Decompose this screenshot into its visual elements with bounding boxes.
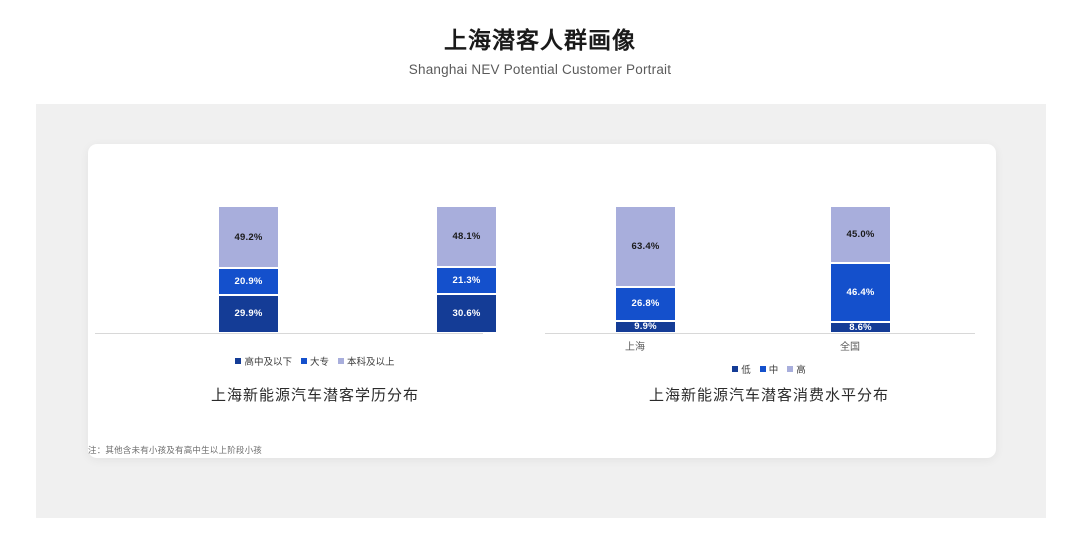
legend-label: 低 xyxy=(741,362,751,376)
legend-swatch-icon xyxy=(732,366,738,372)
legend-label: 高 xyxy=(796,362,806,376)
bar-segment[interactable]: 63.4% xyxy=(615,206,676,287)
page-title: 上海潜客人群画像 xyxy=(0,26,1080,55)
x-axis-line xyxy=(95,333,483,334)
page-header: 上海潜客人群画像 Shanghai NEV Potential Customer… xyxy=(0,0,1080,77)
legend-item[interactable]: 高中及以下 xyxy=(235,354,292,368)
legend-swatch-icon xyxy=(301,358,307,364)
chart-caption: 上海新能源汽车潜客学历分布 xyxy=(88,384,542,405)
stacked-bar[interactable]: 45.0%46.4%8.6% xyxy=(830,206,891,333)
plot-area: 63.4%26.8%9.9%45.0%46.4%8.6% xyxy=(542,144,996,334)
x-axis-tick-label: 上海 xyxy=(595,338,675,353)
legend-swatch-icon xyxy=(235,358,241,364)
x-axis-line xyxy=(545,333,975,334)
stacked-bar[interactable]: 49.2%20.9%29.9% xyxy=(218,206,279,333)
bar-segment[interactable]: 21.3% xyxy=(436,267,497,294)
x-axis-tick-labels: 上海全国 xyxy=(542,335,996,353)
chart-2: 63.4%26.8%9.9%45.0%46.4%8.6%上海全国低中高上海新能源… xyxy=(542,144,996,458)
charts-card: 49.2%20.9%29.9%48.1%21.3%30.6%高中及以下大专本科及… xyxy=(88,144,996,458)
legend-label: 高中及以下 xyxy=(244,354,292,368)
bar-segment[interactable]: 49.2% xyxy=(218,206,279,268)
legend-label: 本科及以上 xyxy=(347,354,395,368)
legend-swatch-icon xyxy=(787,366,793,372)
bar-segment[interactable]: 20.9% xyxy=(218,268,279,295)
bar-segment[interactable]: 30.6% xyxy=(436,294,497,333)
footnote: 注：其他含未有小孩及有高中生以上阶段小孩 xyxy=(88,444,262,456)
bar-segment[interactable]: 29.9% xyxy=(218,295,279,333)
stacked-bar[interactable]: 63.4%26.8%9.9% xyxy=(615,206,676,333)
bar-segment[interactable]: 8.6% xyxy=(830,322,891,333)
legend-label: 大专 xyxy=(310,354,329,368)
bar-segment[interactable]: 48.1% xyxy=(436,206,497,267)
chart-legend: 高中及以下大专本科及以上 xyxy=(88,354,542,368)
plot-area: 49.2%20.9%29.9%48.1%21.3%30.6% xyxy=(88,144,542,334)
page-subtitle: Shanghai NEV Potential Customer Portrait xyxy=(0,62,1080,77)
legend-swatch-icon xyxy=(338,358,344,364)
chart-1: 49.2%20.9%29.9%48.1%21.3%30.6%高中及以下大专本科及… xyxy=(88,144,542,458)
legend-label: 中 xyxy=(769,362,779,376)
legend-item[interactable]: 低 xyxy=(732,362,751,376)
legend-item[interactable]: 高 xyxy=(787,362,806,376)
stacked-bar[interactable]: 48.1%21.3%30.6% xyxy=(436,206,497,333)
bar-segment[interactable]: 26.8% xyxy=(615,287,676,321)
charts-container: 49.2%20.9%29.9%48.1%21.3%30.6%高中及以下大专本科及… xyxy=(88,144,996,458)
legend-item[interactable]: 大专 xyxy=(301,354,329,368)
legend-item[interactable]: 中 xyxy=(760,362,779,376)
bar-segment[interactable]: 9.9% xyxy=(615,321,676,334)
content-panel: 49.2%20.9%29.9%48.1%21.3%30.6%高中及以下大专本科及… xyxy=(36,104,1046,518)
x-axis-tick-label: 全国 xyxy=(810,338,890,353)
chart-caption: 上海新能源汽车潜客消费水平分布 xyxy=(542,384,996,405)
legend-item[interactable]: 本科及以上 xyxy=(338,354,395,368)
bar-segment[interactable]: 46.4% xyxy=(830,263,891,322)
chart-legend: 低中高 xyxy=(542,362,996,376)
legend-swatch-icon xyxy=(760,366,766,372)
bar-segment[interactable]: 45.0% xyxy=(830,206,891,263)
